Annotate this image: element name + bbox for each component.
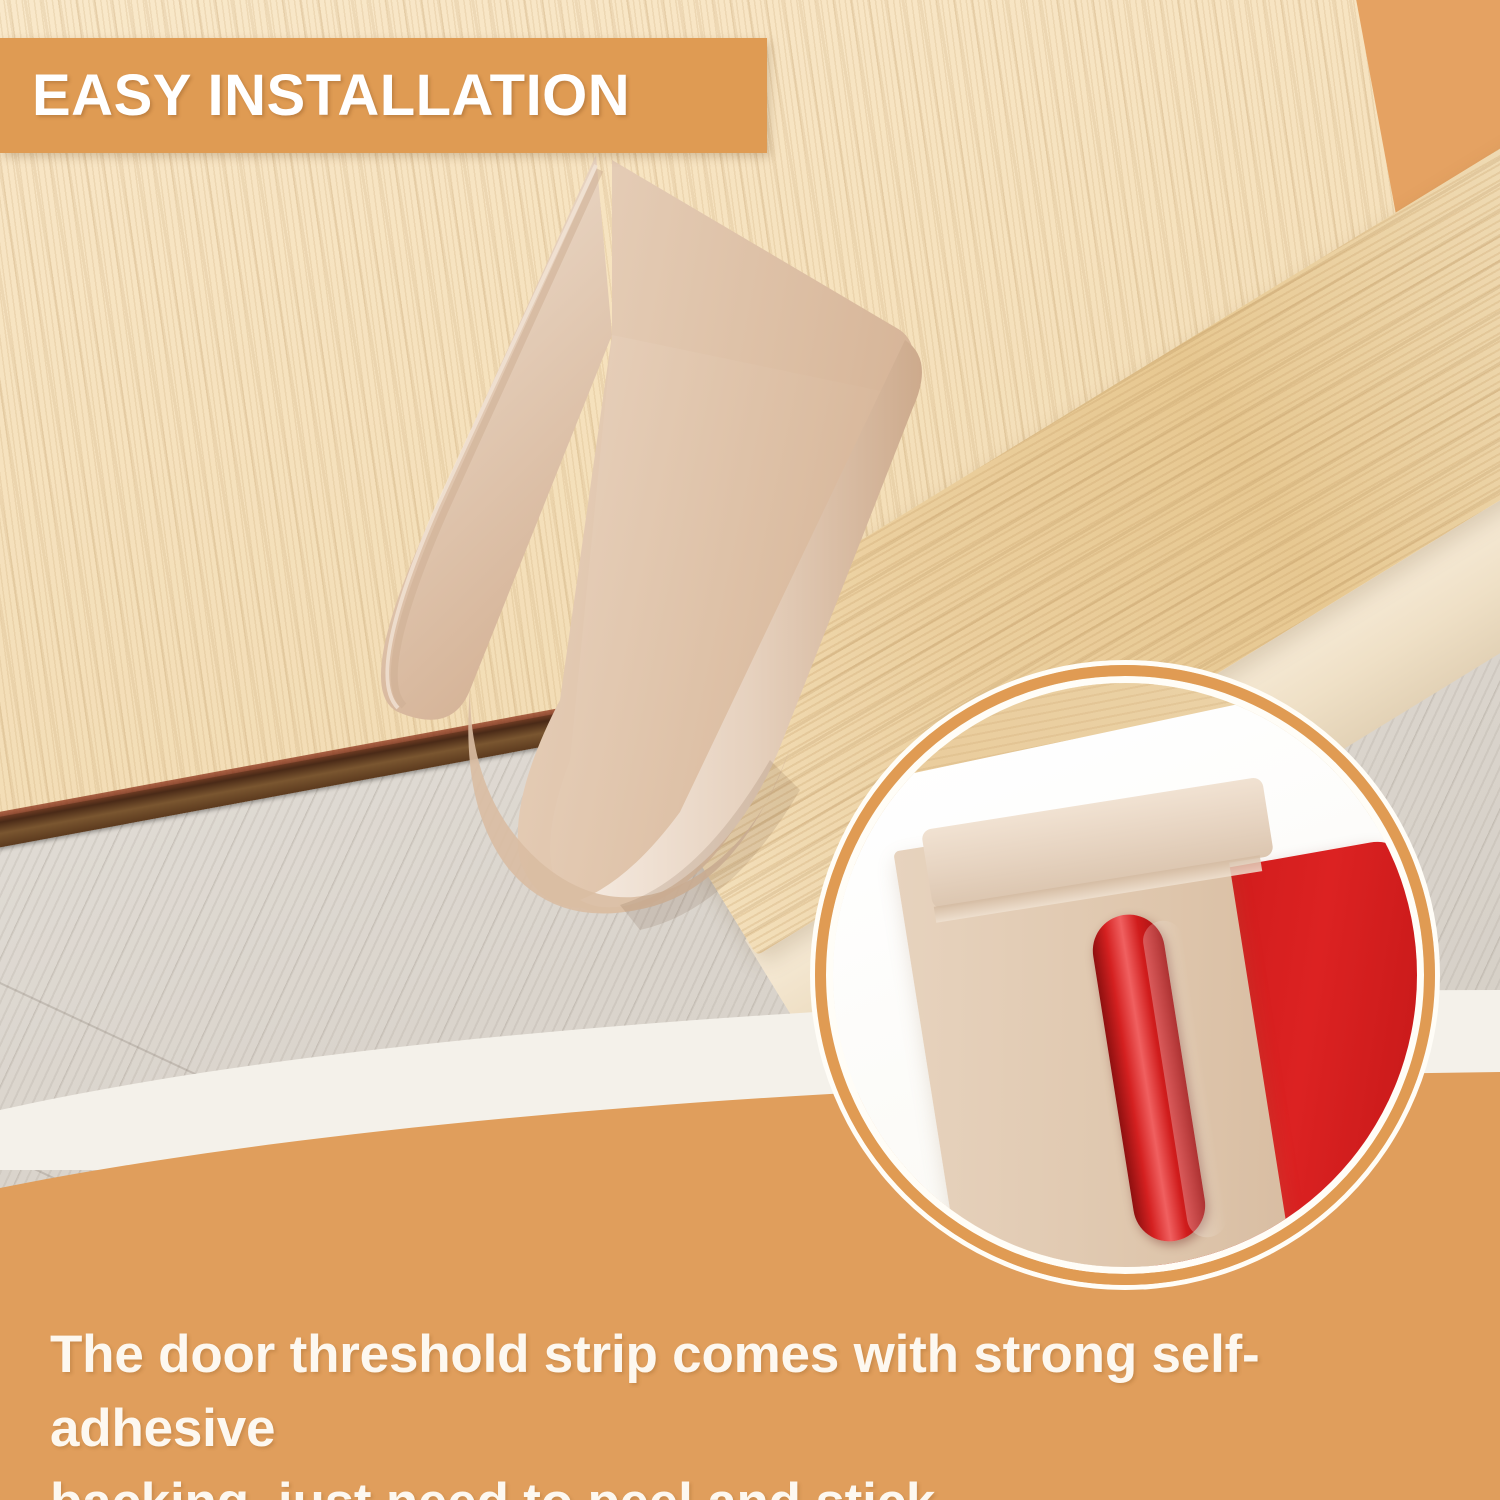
header-banner: EASY INSTALLATION <box>0 38 767 153</box>
caption-text: The door threshold strip comes with stro… <box>50 1318 1460 1500</box>
caption-line-1: The door threshold strip comes with stro… <box>50 1318 1460 1466</box>
product-marketing-image: EASY INSTALLATION The door threshold str… <box>0 0 1500 1500</box>
inset-ring <box>815 665 1435 1285</box>
closeup-inset <box>815 665 1435 1285</box>
caption-line-2: backing, just need to peel and stick. <box>50 1466 1460 1500</box>
inset-content <box>833 683 1417 1267</box>
page-title: EASY INSTALLATION <box>32 67 630 125</box>
